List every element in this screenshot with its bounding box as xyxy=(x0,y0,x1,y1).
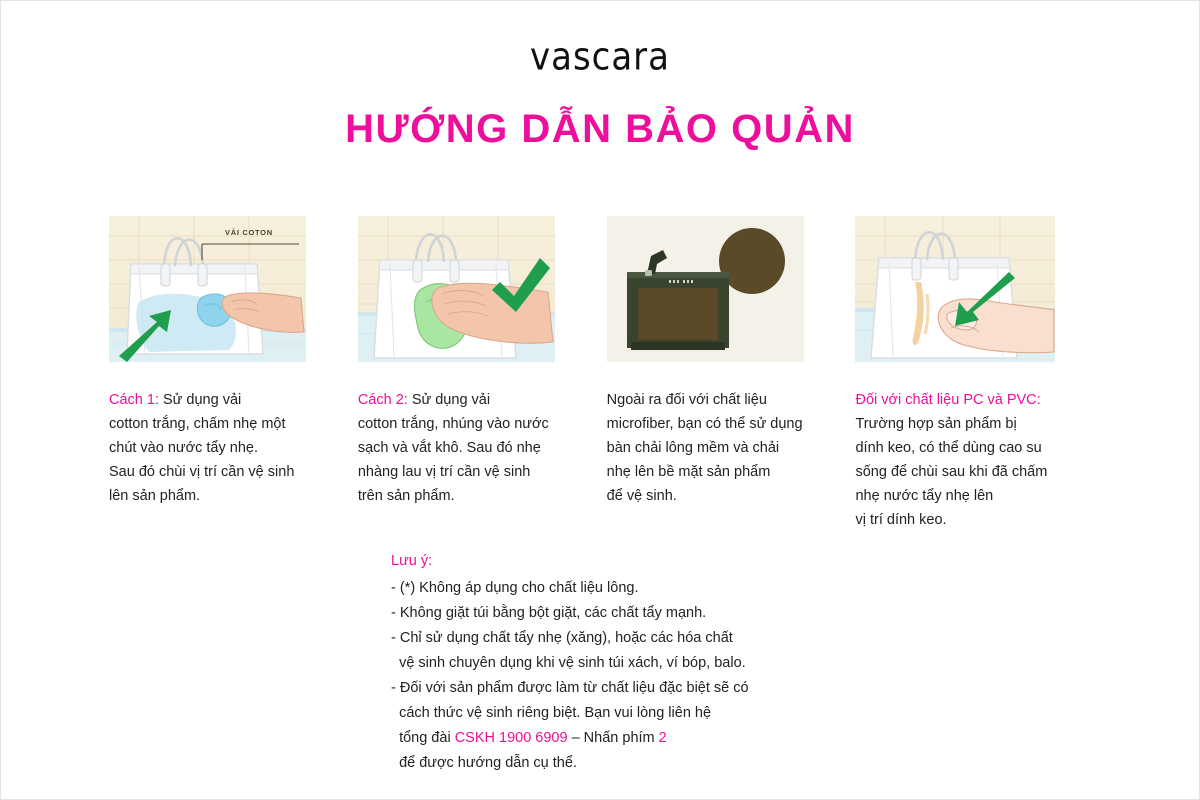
instruction-column-2: Cách 2: Sử dụng vải cotton trắng, nhúng … xyxy=(358,216,607,532)
caption-lead-2: Cách 2: xyxy=(358,392,408,408)
care-guide-page: vascara HƯỚNG DẪN BẢO QUẢN xyxy=(0,0,1200,800)
bag-glue-stain-illustration xyxy=(855,216,1055,362)
caption-body-2: Sử dụng vải cotton trắng, nhúng vào nước… xyxy=(358,392,549,504)
illustration-svg-1 xyxy=(109,216,306,362)
notes-section: Lưu ý: - (*) Không áp dụng cho chất liệu… xyxy=(391,549,1011,776)
caption-1: Cách 1: Sử dụng vải cotton trắng, chấm n… xyxy=(109,388,354,508)
note-line-3: - Chỉ sử dụng chất tẩy nhẹ (xăng), hoặc … xyxy=(391,626,1011,676)
cotton-cloth-label: VẢI COTON xyxy=(225,228,273,237)
instruction-column-4: Đối với chất liệu PC và PVC: Trường hợp … xyxy=(855,216,1109,532)
hotline-key: 2 xyxy=(659,730,667,746)
page-title: HƯỚNG DẪN BẢO QUẢN xyxy=(1,107,1199,152)
vascara-logo: vascara xyxy=(530,35,670,80)
instruction-column-1: VẢI COTON Cách 1: Sử dụng vải cotton trắ… xyxy=(109,216,358,532)
caption-lead-4: Đối với chất liệu PC và PVC: xyxy=(855,392,1040,408)
caption-body-1: Sử dụng vải cotton trắng, chấm nhẹ một c… xyxy=(109,392,294,504)
note-last-part3: để được hướng dẫn cụ thể. xyxy=(391,755,577,771)
illustration-svg-2 xyxy=(358,216,555,362)
caption-body-3: Ngoài ra đối với chất liệu microfiber, b… xyxy=(607,392,803,504)
hotline-number: CSKH 1900 6909 xyxy=(455,730,568,746)
illustration-svg-4 xyxy=(855,216,1055,362)
notes-title: Lưu ý: xyxy=(391,549,1011,574)
note-line-1: - (*) Không áp dụng cho chất liệu lông. xyxy=(391,576,1011,601)
note-line-4: - Đối với sản phẩm được làm từ chất liệu… xyxy=(391,676,1011,776)
bag-wipe-damp-cloth-illustration xyxy=(358,216,555,362)
caption-lead-1: Cách 1: xyxy=(109,392,159,408)
caption-4: Đối với chất liệu PC và PVC: Trường hợp … xyxy=(855,388,1100,532)
microfiber-wallet-photo xyxy=(607,216,804,362)
bag-wipe-cotton-cloth-illustration: VẢI COTON xyxy=(109,216,306,362)
illustration-svg-3 xyxy=(607,216,804,362)
note-last-part2: – Nhấn phím xyxy=(568,730,659,746)
caption-body-4: Trường hợp sản phẩm bị dính keo, có thể … xyxy=(855,416,1047,528)
caption-3: Ngoài ra đối với chất liệu microfiber, b… xyxy=(607,388,852,508)
instruction-columns: VẢI COTON Cách 1: Sử dụng vải cotton trắ… xyxy=(109,216,1109,532)
brand-header: vascara xyxy=(1,37,1199,77)
instruction-column-3: Ngoài ra đối với chất liệu microfiber, b… xyxy=(607,216,856,532)
caption-2: Cách 2: Sử dụng vải cotton trắng, nhúng … xyxy=(358,388,603,508)
note-line-2: - Không giặt túi bằng bột giặt, các chất… xyxy=(391,601,1011,626)
